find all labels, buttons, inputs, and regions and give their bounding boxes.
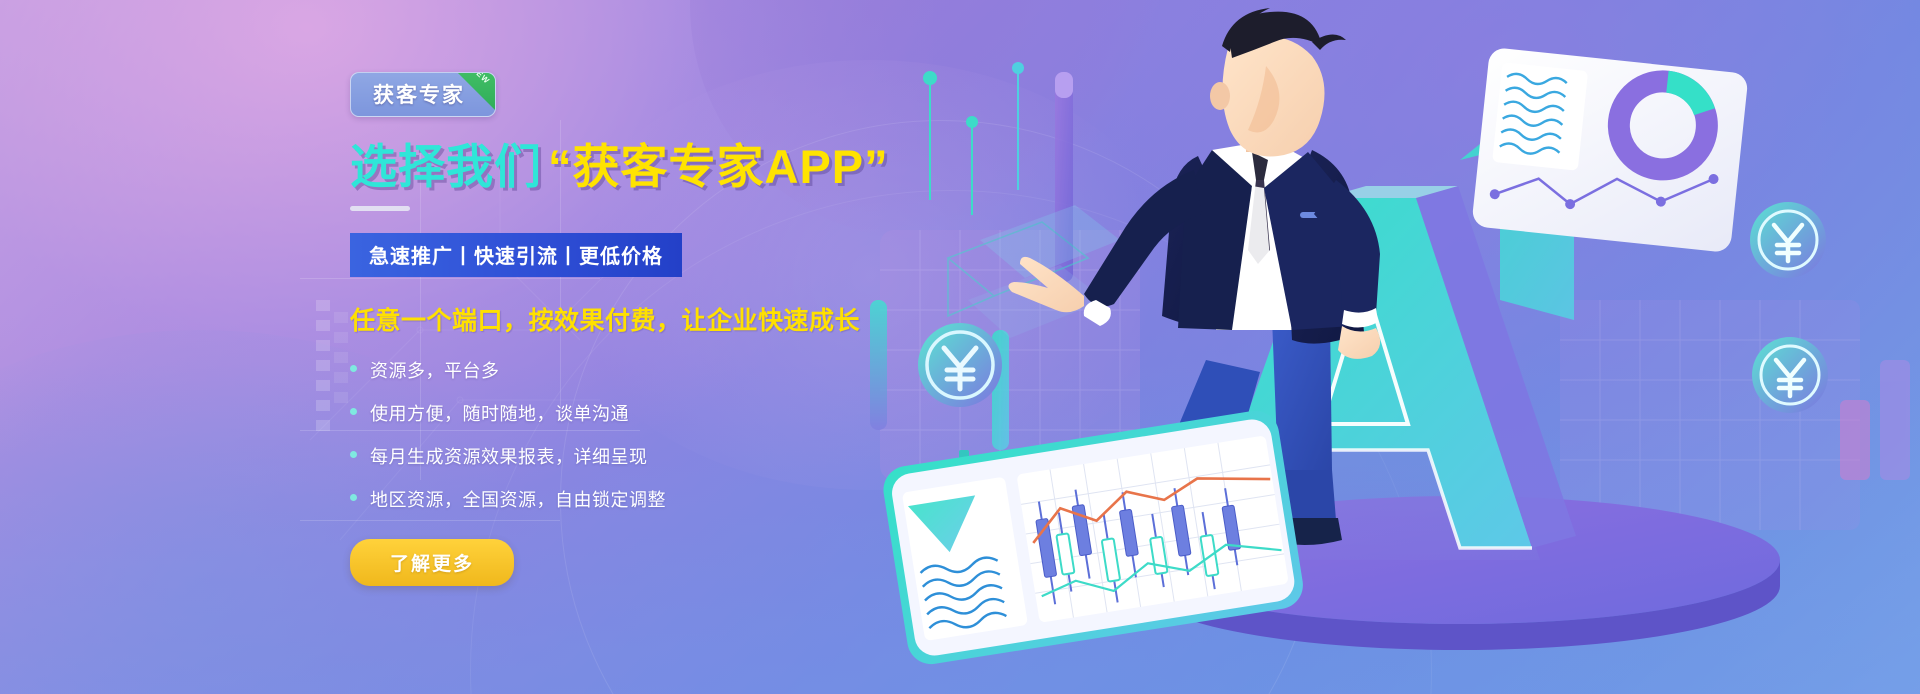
illustration-svg: A: [860, 0, 1920, 694]
banner-text-block: 获客专家 NEW 选择我们“获客专家APP” 急速推广丨快速引流丨更低价格 任意…: [350, 72, 910, 586]
yen-coin-badge-lower: [1752, 337, 1828, 413]
list-item: 地区资源，全国资源，自由锁定调整: [350, 486, 910, 512]
product-badge: 获客专家 NEW: [350, 72, 496, 117]
decor-dot: [1012, 62, 1024, 74]
bullet-dot-icon: [350, 494, 357, 501]
list-item-label: 资源多，平台多: [370, 361, 500, 381]
decor-stems: [930, 80, 972, 215]
yen-coin: [918, 323, 1002, 407]
headline: 选择我们“获客专家APP”: [350, 142, 910, 192]
headline-part-cyan: 选择我们: [350, 140, 542, 193]
decor-dot: [966, 116, 978, 128]
new-ribbon-label: NEW: [470, 72, 492, 86]
product-badge-label: 获客专家: [373, 84, 465, 107]
feature-strip-label: 急速推广丨快速引流丨更低价格: [369, 246, 663, 268]
learn-more-button-label: 了解更多: [390, 554, 474, 575]
list-item-label: 地区资源，全国资源，自由锁定调整: [370, 490, 666, 510]
decor-grid-panel-right: [1560, 300, 1860, 530]
donut-chart-card: [1471, 47, 1748, 253]
tagline: 任意一个端口，按效果付费，让企业快速成长: [350, 301, 910, 337]
learn-more-button[interactable]: 了解更多: [350, 539, 514, 586]
list-item-label: 使用方便，随时随地，谈单沟通: [370, 404, 629, 424]
list-item: 每月生成资源效果报表，详细呈现: [350, 443, 910, 469]
list-item: 使用方便，随时随地，谈单沟通: [350, 400, 910, 426]
bullet-dot-icon: [350, 451, 357, 458]
feature-list: 资源多，平台多 使用方便，随时随地，谈单沟通 每月生成资源效果报表，详细呈现 地…: [350, 357, 910, 512]
headline-divider: [350, 206, 410, 211]
feature-strip: 急速推广丨快速引流丨更低价格: [350, 233, 682, 277]
decor-dot: [923, 71, 937, 85]
bullet-dot-icon: [350, 408, 357, 415]
headline-part-yellow: “获客专家APP”: [548, 140, 889, 193]
hero-illustration: A: [860, 0, 1920, 694]
list-item-label: 每月生成资源效果报表，详细呈现: [370, 447, 648, 467]
promo-banner: 获客专家 NEW 选择我们“获客专家APP” 急速推广丨快速引流丨更低价格 任意…: [0, 0, 1920, 694]
list-item: 资源多，平台多: [350, 357, 910, 383]
yen-coin-badge-upper: [1750, 202, 1826, 278]
bullet-dot-icon: [350, 365, 357, 372]
